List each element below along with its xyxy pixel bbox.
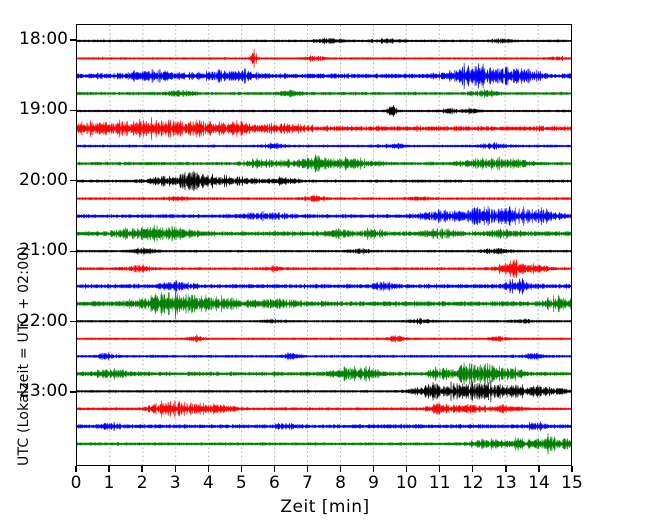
y-tick-label: 18:00 (19, 31, 68, 48)
x-tick-mark (307, 466, 308, 472)
x-tick-mark (274, 466, 275, 472)
x-tick-mark (505, 466, 506, 472)
x-tick-mark (75, 466, 76, 472)
x-tick-mark (571, 466, 572, 472)
x-tick-mark (108, 466, 109, 472)
y-tick-mark (70, 180, 76, 181)
y-tick-mark (70, 391, 76, 392)
x-tick-mark (241, 466, 242, 472)
x-tick-mark (538, 466, 539, 472)
x-tick-mark (208, 466, 209, 472)
x-tick-mark (340, 466, 341, 472)
x-tick-mark (373, 466, 374, 472)
x-axis-label: Zeit [min] (0, 497, 650, 517)
x-tick-mark (141, 466, 142, 472)
seismogram-figure: 18:0019:0020:0021:0022:0023:00 012345678… (0, 0, 650, 520)
x-tick-mark (472, 466, 473, 472)
y-tick-mark (70, 321, 76, 322)
y-tick-label: 20:00 (19, 172, 68, 189)
y-tick-label: 19:00 (19, 101, 68, 118)
y-tick-mark (70, 110, 76, 111)
x-tick-mark (439, 466, 440, 472)
seismic-traces (77, 25, 571, 465)
x-tick-mark (175, 466, 176, 472)
y-tick-mark (70, 39, 76, 40)
y-tick-mark (70, 251, 76, 252)
y-axis-label: UTC (Lokalzeit = UTC + 02:00) (16, 246, 32, 466)
plot-area (76, 24, 572, 466)
x-tick-mark (406, 466, 407, 472)
x-tick-label: 15 (552, 475, 592, 492)
